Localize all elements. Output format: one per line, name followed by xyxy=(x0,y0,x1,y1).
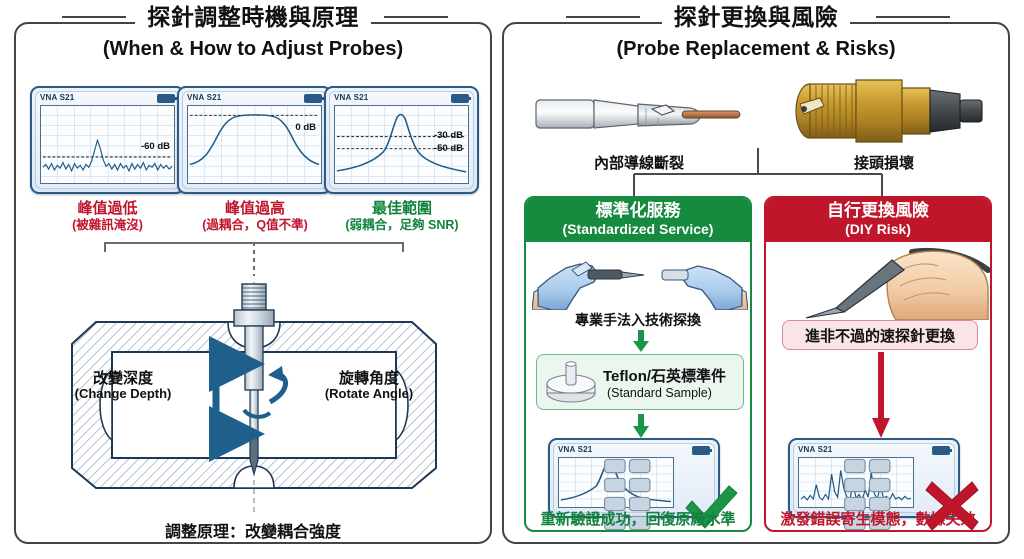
sample-label-line1: Teflon/石英標準件 xyxy=(603,365,726,386)
card-title-en: (DIY Risk) xyxy=(766,221,990,237)
battery-icon xyxy=(932,446,950,455)
vna-card-optimal-range: VNA S21 xyxy=(324,86,479,194)
standard-sample-puck-icon xyxy=(543,359,599,407)
infographic-root: 探針調整時機與原理 (When & How to Adjust Probes) … xyxy=(0,0,1024,559)
title-rule-right xyxy=(504,14,1008,20)
summary-bracket xyxy=(16,242,494,282)
rotate-angle-zh: 旋轉角度 xyxy=(294,370,444,387)
vna-device-label: VNA S21 xyxy=(187,93,221,102)
left-panel-subtitle: (When & How to Adjust Probes) xyxy=(16,38,490,61)
vna-marker-label-50db: -50 dB xyxy=(434,143,463,154)
arrow-down-to-sample xyxy=(633,330,649,357)
rotate-angle-en: (Rotate Angle) xyxy=(294,387,444,402)
panel-probe-replacement: 探針更換與風險 (Probe Replacement & Risks) xyxy=(502,22,1010,544)
vna-screen: 0 dB xyxy=(187,105,322,184)
change-depth-en: (Change Depth) xyxy=(58,387,188,402)
title-rule-left xyxy=(16,14,490,20)
standard-sample-box: Teflon/石英標準件 (Standard Sample) xyxy=(536,354,744,410)
card-standardized-service: 標準化服務 (Standardized Service) xyxy=(524,196,752,532)
bare-hand-probe-icon xyxy=(792,246,992,320)
branch-connector xyxy=(504,148,1012,198)
change-depth-zh: 改變深度 xyxy=(58,370,188,387)
gloved-hands-probe-swap-icon xyxy=(532,248,748,310)
label-change-depth: 改變深度 (Change Depth) xyxy=(58,370,188,402)
bottom-message-green: 重新驗證成功，回復原廠水準 xyxy=(526,508,750,529)
broken-coax-cable-icon xyxy=(534,82,744,144)
hand-caption-green: 專業手法入技術探換 xyxy=(526,310,750,330)
card-diy-risk: 自行更換風險 (DIY Risk) xyxy=(764,196,992,532)
card-title-zh: 自行更換風險 xyxy=(766,202,990,221)
label-rotate-angle: 旋轉角度 (Rotate Angle) xyxy=(294,370,444,402)
vna-marker-label-30db: -30 dB xyxy=(434,130,463,141)
battery-icon xyxy=(157,94,175,103)
card-header-green: 標準化服務 (Standardized Service) xyxy=(526,198,750,242)
card-title-zh: 標準化服務 xyxy=(526,202,750,221)
sample-label-line2: (Standard Sample) xyxy=(607,386,712,400)
adjustment-principle-footnote: 調整原理：改變耦合強度 xyxy=(16,518,490,542)
right-panel-subtitle: (Probe Replacement & Risks) xyxy=(504,38,1008,61)
vna-device-label: VNA S21 xyxy=(334,93,368,102)
arrow-down-to-vna-red xyxy=(872,352,890,443)
vna-screen: -30 dB -50 dB xyxy=(334,105,469,184)
battery-icon xyxy=(451,94,469,103)
vna-marker-label-60db: -60 dB xyxy=(141,141,170,152)
caption-optimal-range: 最佳範圍 (弱耦合，足夠 SNR) xyxy=(313,200,491,233)
diy-warning-box: 進非不過的速探針更換 xyxy=(782,320,978,350)
battery-icon xyxy=(692,446,710,455)
caption-zh: 最佳範圍 xyxy=(313,200,491,217)
damaged-sma-connector-icon xyxy=(784,76,984,146)
card-header-red: 自行更換風險 (DIY Risk) xyxy=(766,198,990,242)
bottom-message-red: 激發錯誤寄生模態，數據失效 xyxy=(766,508,990,529)
vna-device-label: VNA S21 xyxy=(40,93,74,102)
cavity-cross-section-diagram: 改變深度 (Change Depth) 旋轉角度 (Rotate Angle) xyxy=(38,282,470,514)
caption-en: (弱耦合，足夠 SNR) xyxy=(313,218,491,232)
battery-icon xyxy=(304,94,322,103)
vna-card-peak-too-high: VNA S21 0 dB xyxy=(177,86,332,194)
vna-device-label: VNA S21 xyxy=(558,445,592,454)
panel-probe-adjustment: 探針調整時機與原理 (When & How to Adjust Probes) … xyxy=(14,22,492,544)
vna-marker-label-0db: 0 dB xyxy=(295,122,316,133)
vna-screen: -60 dB xyxy=(40,105,175,184)
vna-card-peak-too-low: VNA S21 xyxy=(30,86,185,194)
card-title-en: (Standardized Service) xyxy=(526,221,750,237)
vna-device-label: VNA S21 xyxy=(798,445,832,454)
